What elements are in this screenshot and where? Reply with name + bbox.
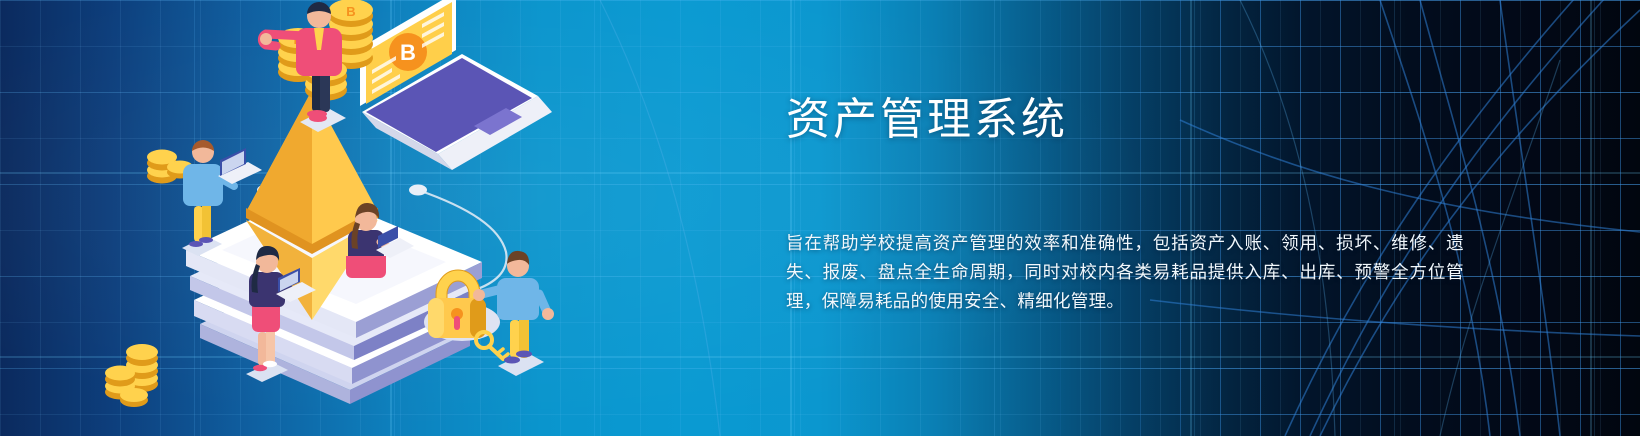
isometric-asset-management-illustration: B (70, 0, 610, 436)
page-description: 旨在帮助学校提高资产管理的效率和准确性，包括资产入账、领用、损坏、维修、遗失、报… (786, 229, 1464, 316)
laptop-device: B (360, 0, 552, 170)
background-grid-right-boost (1020, 0, 1640, 436)
svg-text:B: B (346, 4, 355, 19)
asset-management-hero-banner: B (0, 0, 1640, 436)
hero-copy-block: 资产管理系统 (786, 92, 1476, 147)
page-title: 资产管理系统 (786, 92, 1476, 147)
key-icon (476, 332, 508, 359)
svg-text:B: B (400, 40, 416, 65)
coin-stack-bottom (105, 344, 158, 407)
